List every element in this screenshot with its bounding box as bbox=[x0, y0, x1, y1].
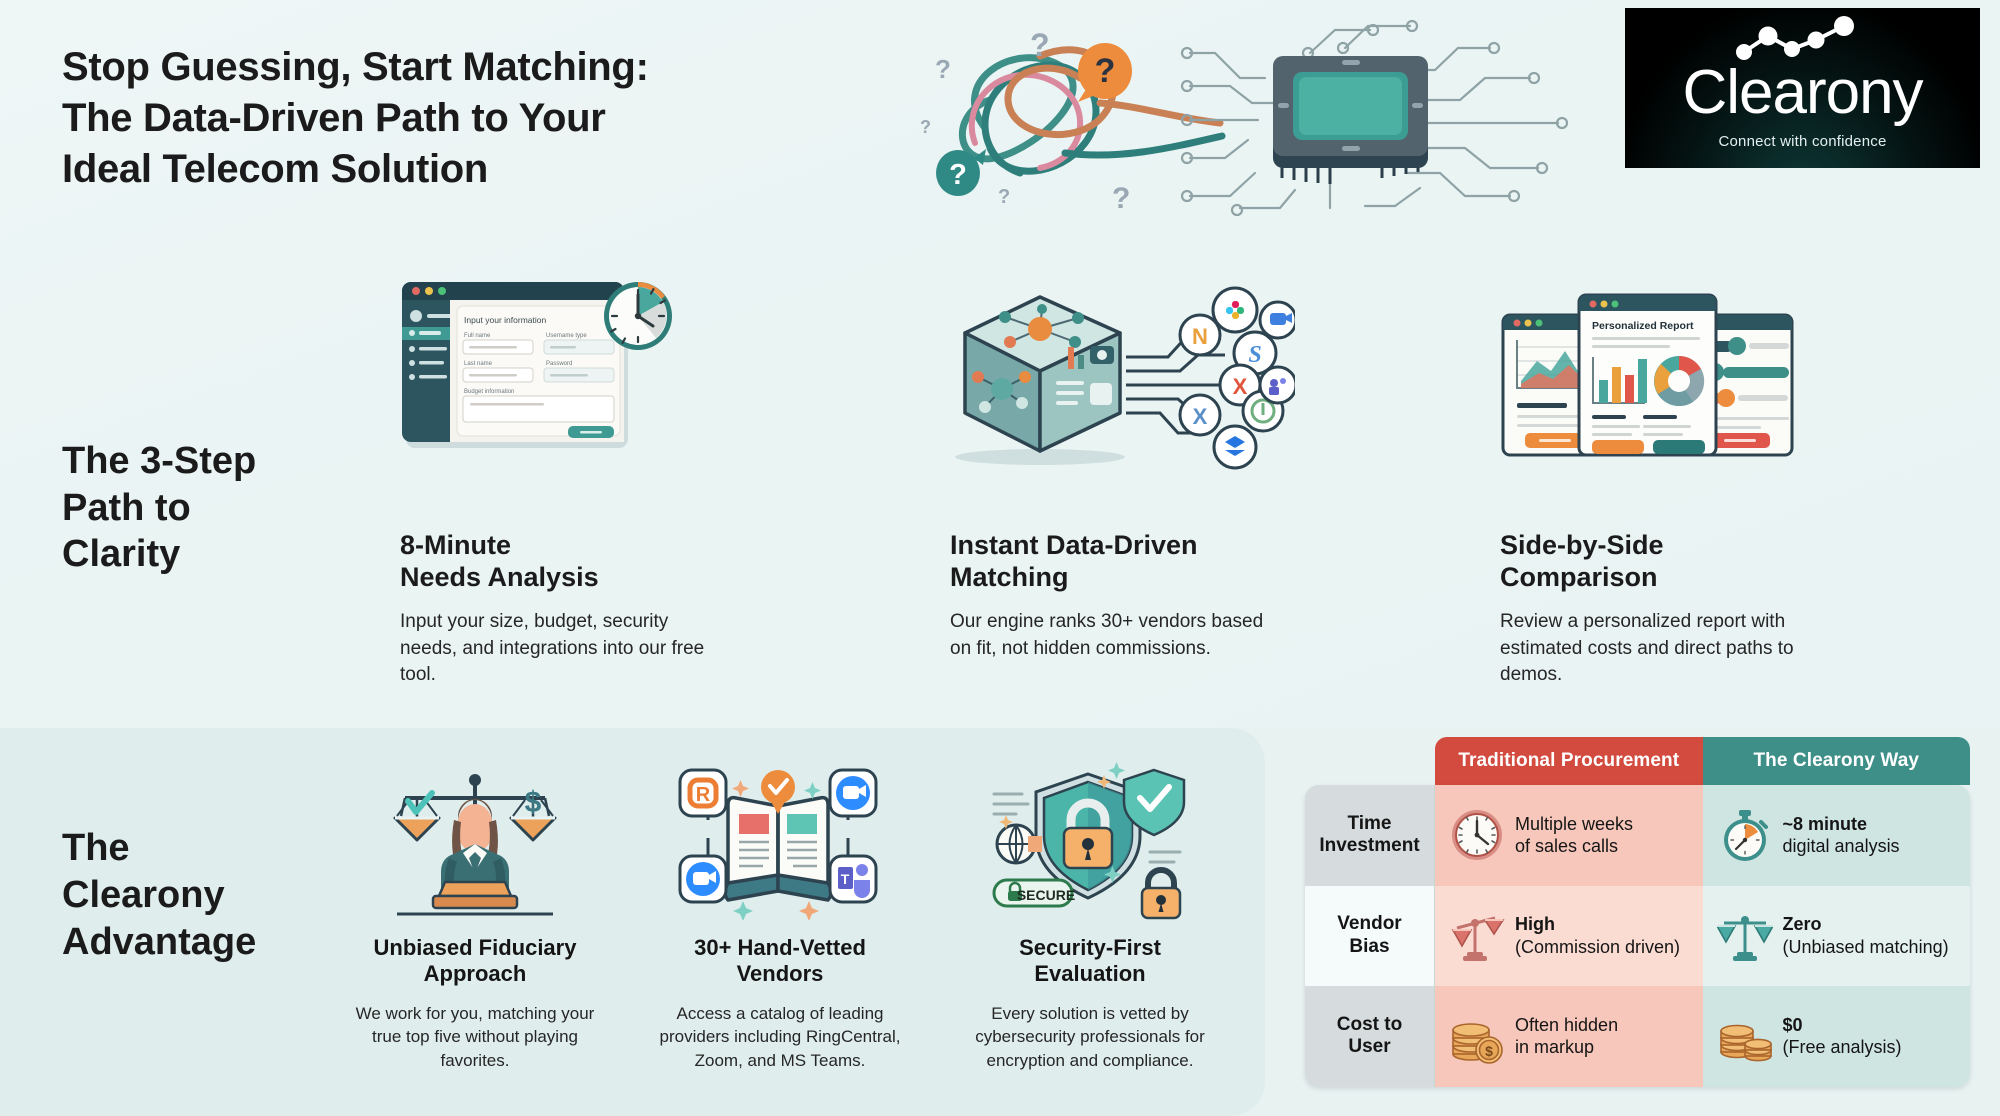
steps-title-line-1: The 3-Step bbox=[62, 438, 362, 485]
secure-badge-label: SECURE bbox=[1017, 887, 1075, 903]
svg-text:$: $ bbox=[525, 786, 542, 819]
comparison-row-3-traditional: $ Often hidden in markup bbox=[1435, 986, 1703, 1087]
comparison-row-1-clearony-line-2: digital analysis bbox=[1783, 835, 1900, 858]
advantage-1-heading-line-1: Unbiased Fiduciary bbox=[374, 935, 577, 960]
step-3-body: Review a personalized report with estima… bbox=[1500, 609, 1830, 688]
step-1-heading: 8-Minute Needs Analysis bbox=[400, 530, 730, 593]
comparison-row-1-traditional-text: Multiple weeks of sales calls bbox=[1515, 813, 1633, 858]
comparison-row-1-traditional-line-1: Multiple weeks bbox=[1515, 813, 1633, 836]
svg-text:?: ? bbox=[998, 186, 1010, 208]
advantage-1-heading: Unbiased Fiduciary Approach bbox=[340, 935, 610, 988]
svg-text:S: S bbox=[1248, 342, 1261, 368]
advantage-item-3: Security-First Evaluation Every solution… bbox=[955, 935, 1225, 1072]
report-dashboards-icon: Personalized Report bbox=[1495, 285, 1800, 465]
svg-text:$: $ bbox=[1485, 1043, 1493, 1059]
svg-text:Username type: Username type bbox=[546, 333, 587, 339]
svg-text:X: X bbox=[1193, 404, 1208, 429]
comparison-row-3-clearony-line-2: (Free analysis) bbox=[1783, 1036, 1902, 1059]
comparison-row-3-clearony-line-1: $0 bbox=[1783, 1014, 1902, 1037]
table-row: Cost toUser $ bbox=[1305, 986, 1970, 1087]
comparison-header-row: Traditional Procurement The Clearony Way bbox=[1435, 737, 1970, 785]
signup-form-window-with-clock-icon: Input your information Full nameUsername… bbox=[400, 278, 710, 458]
table-row: VendorBias High (Commission driven) bbox=[1305, 886, 1970, 987]
step-1: 8-Minute Needs Analysis Input your size,… bbox=[400, 530, 730, 688]
comparison-row-2-clearony-text: Zero (Unbiased matching) bbox=[1783, 913, 1949, 958]
svg-text:Budget information: Budget information bbox=[464, 389, 514, 395]
comparison-row-1-clearony-text: ~8 minute digital analysis bbox=[1783, 813, 1900, 858]
step-2: Instant Data-Driven Matching Our engine … bbox=[950, 530, 1280, 662]
comparison-body: TimeInvestment bbox=[1305, 785, 1970, 1087]
shield-padlock-secure-icon: SECURE bbox=[988, 760, 1188, 920]
advantage-2-heading: 30+ Hand-Vetted Vendors bbox=[645, 935, 915, 988]
tilted-scales-icon bbox=[1449, 908, 1505, 964]
balanced-scales-icon bbox=[1717, 908, 1773, 964]
advantage-1-body: We work for you, matching your true top … bbox=[340, 1002, 610, 1072]
comparison-row-3-label-line-2: User bbox=[1348, 1036, 1390, 1057]
svg-text:?: ? bbox=[920, 117, 931, 137]
step-3-heading-line-1: Side-by-Side bbox=[1500, 530, 1664, 560]
comparison-row-3-label: Cost toUser bbox=[1305, 986, 1435, 1087]
comparison-row-2-clearony-line-2: (Unbiased matching) bbox=[1783, 936, 1949, 959]
comparison-row-2-traditional-text: High (Commission driven) bbox=[1515, 913, 1680, 958]
step-2-body: Our engine ranks 30+ vendors based on fi… bbox=[950, 609, 1280, 662]
comparison-row-2-label-line-1: Vendor bbox=[1337, 913, 1401, 934]
scales-of-justice-advisor-icon: $ bbox=[375, 760, 575, 920]
comparison-row-1-label: TimeInvestment bbox=[1305, 785, 1435, 886]
stopwatch-icon bbox=[1717, 807, 1773, 863]
step-3: Side-by-Side Comparison Review a persona… bbox=[1500, 530, 1830, 688]
advantage-2-body: Access a catalog of leading providers in… bbox=[645, 1002, 915, 1072]
comparison-row-2-clearony: Zero (Unbiased matching) bbox=[1703, 886, 1971, 987]
svg-text:?: ? bbox=[1030, 27, 1050, 63]
svg-text:T: T bbox=[841, 871, 850, 887]
step-2-heading: Instant Data-Driven Matching bbox=[950, 530, 1280, 593]
comparison-row-2-traditional-line-1: High bbox=[1515, 913, 1680, 936]
step-3-heading-line-2: Comparison bbox=[1500, 562, 1658, 592]
comparison-row-2-label: VendorBias bbox=[1305, 886, 1435, 987]
comparison-row-1-label-line-1: Time bbox=[1347, 813, 1391, 834]
step-1-heading-line-1: 8-Minute bbox=[400, 530, 511, 560]
logo-tagline: Connect with confidence bbox=[1718, 133, 1886, 150]
headline-line-3: Ideal Telecom Solution bbox=[62, 144, 852, 195]
question-mark-badge-teal: ? bbox=[936, 149, 986, 196]
svg-text:?: ? bbox=[1112, 182, 1130, 215]
wall-clock-icon bbox=[1449, 807, 1505, 863]
comparison-row-1-clearony-line-1: ~8 minute bbox=[1783, 813, 1900, 836]
comparison-row-1-traditional: Multiple weeks of sales calls bbox=[1435, 785, 1703, 886]
step-3-heading: Side-by-Side Comparison bbox=[1500, 530, 1830, 593]
svg-text:Last name: Last name bbox=[464, 361, 493, 367]
steps-title-line-2: Path to bbox=[62, 485, 362, 532]
table-row: TimeInvestment bbox=[1305, 785, 1970, 886]
hero-illustration: ? ? ? ? ? ? ? bbox=[890, 8, 1590, 223]
comparison-row-1-clearony: ~8 minute digital analysis bbox=[1703, 785, 1971, 886]
advantage-2-heading-line-2: Vendors bbox=[737, 961, 824, 986]
comparison-row-3-traditional-line-1: Often hidden bbox=[1515, 1014, 1618, 1037]
advantage-3-body: Every solution is vetted by cybersecurit… bbox=[955, 1002, 1225, 1072]
comparison-row-3-traditional-text: Often hidden in markup bbox=[1515, 1014, 1618, 1059]
comparison-row-2-clearony-line-1: Zero bbox=[1783, 913, 1949, 936]
svg-text:Personalized Report: Personalized Report bbox=[1592, 320, 1694, 332]
comparison-header-clearony: The Clearony Way bbox=[1703, 737, 1971, 785]
svg-text:Input your information: Input your information bbox=[464, 315, 546, 325]
svg-text:Password: Password bbox=[546, 361, 572, 367]
comparison-row-3-clearony: $0 (Free analysis) bbox=[1703, 986, 1971, 1087]
step-1-heading-line-2: Needs Analysis bbox=[400, 562, 599, 592]
advantage-3-heading: Security-First Evaluation bbox=[955, 935, 1225, 988]
step-2-heading-line-1: Instant Data-Driven bbox=[950, 530, 1198, 560]
coin-stacks-icon bbox=[1717, 1008, 1773, 1064]
svg-text:X: X bbox=[1233, 374, 1248, 399]
advantage-1-heading-line-2: Approach bbox=[424, 961, 527, 986]
advantage-3-heading-line-1: Security-First bbox=[1019, 935, 1161, 960]
comparison-table: Traditional Procurement The Clearony Way… bbox=[1305, 737, 1970, 1087]
comparison-row-3-label-line-1: Cost to bbox=[1337, 1014, 1402, 1035]
svg-text:N: N bbox=[1192, 324, 1208, 349]
advantage-2-heading-line-1: 30+ Hand-Vetted bbox=[694, 935, 866, 960]
comparison-row-2-traditional-line-2: (Commission driven) bbox=[1515, 936, 1680, 959]
coin-stack-dollar-icon: $ bbox=[1449, 1008, 1505, 1064]
logo-wordmark: Clearony bbox=[1682, 62, 1922, 124]
advantage-item-1: Unbiased Fiduciary Approach We work for … bbox=[340, 935, 610, 1072]
svg-text:R: R bbox=[696, 784, 711, 806]
comparison-row-2-label-line-2: Bias bbox=[1349, 936, 1389, 957]
advantage-3-heading-line-2: Evaluation bbox=[1034, 961, 1145, 986]
comparison-row-1-traditional-line-2: of sales calls bbox=[1515, 835, 1633, 858]
step-1-body: Input your size, budget, security needs,… bbox=[400, 609, 730, 688]
advantage-title-line-1: The bbox=[62, 825, 352, 872]
svg-text:?: ? bbox=[935, 54, 951, 84]
advantage-title-line-3: Advantage bbox=[62, 919, 352, 966]
advantage-section-title: The Clearony Advantage bbox=[62, 825, 352, 966]
svg-text:?: ? bbox=[949, 159, 967, 191]
open-catalog-with-vendor-logos-icon: R T bbox=[678, 760, 878, 920]
comparison-header-traditional: Traditional Procurement bbox=[1435, 737, 1703, 785]
comparison-row-3-clearony-text: $0 (Free analysis) bbox=[1783, 1014, 1902, 1059]
svg-text:Full name: Full name bbox=[464, 333, 491, 339]
svg-text:?: ? bbox=[1095, 52, 1116, 90]
headline-line-2: The Data-Driven Path to Your bbox=[62, 93, 852, 144]
steps-title-line-3: Clarity bbox=[62, 531, 362, 578]
advantage-title-line-2: Clearony bbox=[62, 872, 352, 919]
logo: Clearony Connect with confidence bbox=[1625, 8, 1980, 168]
headline-line-1: Stop Guessing, Start Matching: bbox=[62, 42, 852, 93]
step-2-heading-line-2: Matching bbox=[950, 562, 1069, 592]
page-title: Stop Guessing, Start Matching: The Data-… bbox=[62, 42, 852, 194]
line-chart-nodes-icon bbox=[1728, 16, 1878, 62]
comparison-row-1-label-line-2: Investment bbox=[1319, 835, 1419, 856]
steps-section-title: The 3-Step Path to Clarity bbox=[62, 438, 362, 578]
comparison-row-2-traditional: High (Commission driven) bbox=[1435, 886, 1703, 987]
question-mark-badge-orange: ? bbox=[1078, 43, 1132, 102]
advantage-item-2: 30+ Hand-Vetted Vendors Access a catalog… bbox=[645, 935, 915, 1072]
data-cube-with-vendor-badges-icon: N S X X bbox=[930, 285, 1295, 470]
comparison-row-3-traditional-line-2: in markup bbox=[1515, 1036, 1618, 1059]
